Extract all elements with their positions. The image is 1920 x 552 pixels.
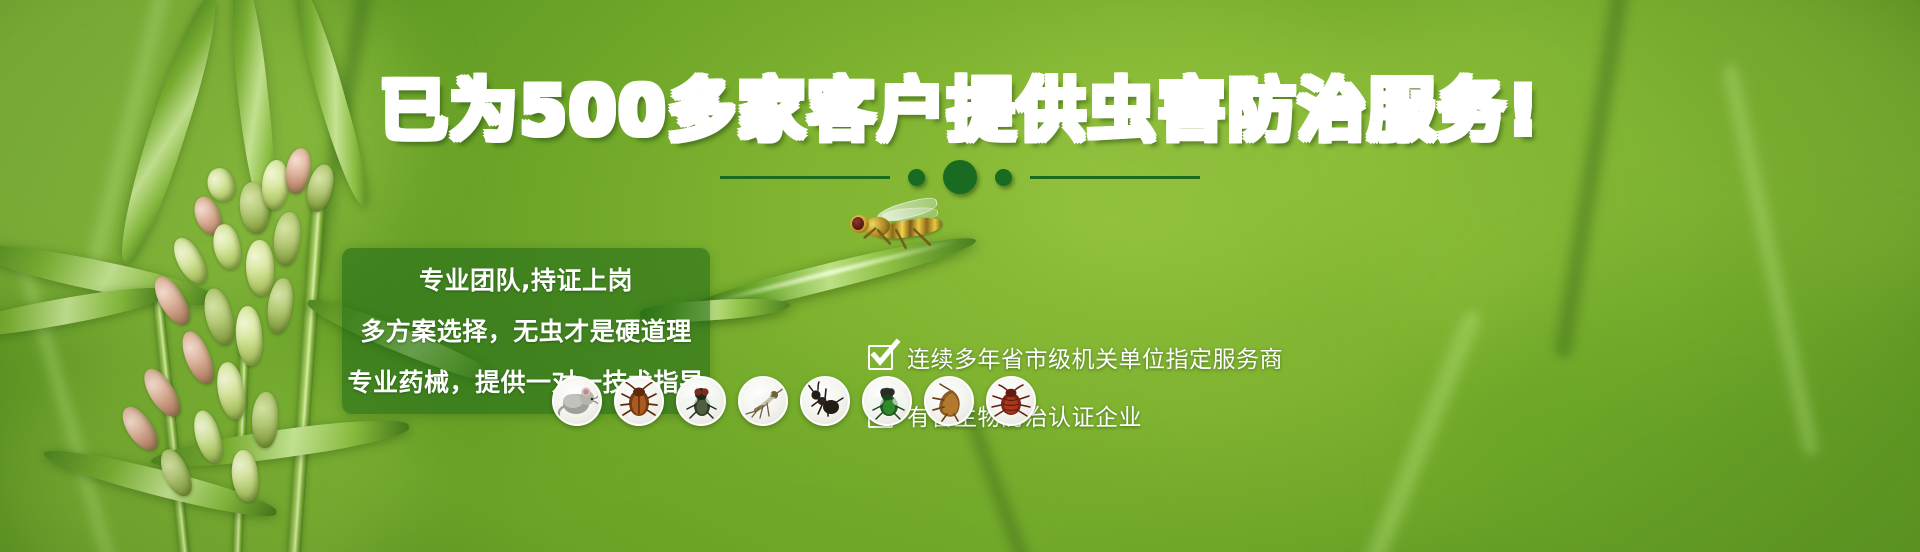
cockroach-icon[interactable] [614, 376, 664, 426]
hoverfly-photo [846, 198, 964, 254]
page-title: 已为500多家客户提供虫害防治服务! [0, 78, 1920, 146]
mosquito-icon[interactable] [738, 376, 788, 426]
divider-line-left [720, 176, 890, 179]
fly-eye [852, 217, 864, 230]
panel-line-2: 多方案选择，无虫才是硬道理 [360, 312, 692, 348]
plant-leaf [0, 280, 171, 346]
divider-dot-small [908, 169, 925, 186]
decoration-divider [0, 160, 1920, 194]
fly-icon[interactable] [676, 376, 726, 426]
pest-type-icon-row [552, 376, 1036, 426]
bedbug-icon[interactable] [986, 376, 1036, 426]
panel-line-1: 专业团队,持证上岗 [419, 261, 633, 297]
ant-icon[interactable] [800, 376, 850, 426]
divider-dot-large [943, 160, 977, 194]
plant-leaf [149, 412, 410, 476]
divider-dot-small [995, 169, 1012, 186]
mouse-icon[interactable] [552, 376, 602, 426]
list-item-label: 连续多年省市级机关单位指定服务商 [907, 340, 1283, 374]
divider-line-right [1030, 176, 1200, 179]
headline-text: 已为500多家客户提供虫害防治服务! [380, 72, 1541, 151]
list-item: 连续多年省市级机关单位指定服务商 [868, 340, 1283, 374]
flea-icon[interactable] [924, 376, 974, 426]
plant-bud [271, 211, 303, 267]
plant-bud [245, 240, 275, 297]
plant-bud [199, 286, 238, 349]
fly-head [850, 215, 869, 233]
plant-bud [210, 222, 245, 272]
checkbox-check-icon [868, 345, 893, 370]
hero-banner: 已为500多家客户提供虫害防治服务! 专业团队,持证上岗 多方案选择，无虫才是硬… [0, 0, 1920, 552]
plant-bud [116, 402, 164, 457]
blowfly-icon[interactable] [862, 376, 912, 426]
